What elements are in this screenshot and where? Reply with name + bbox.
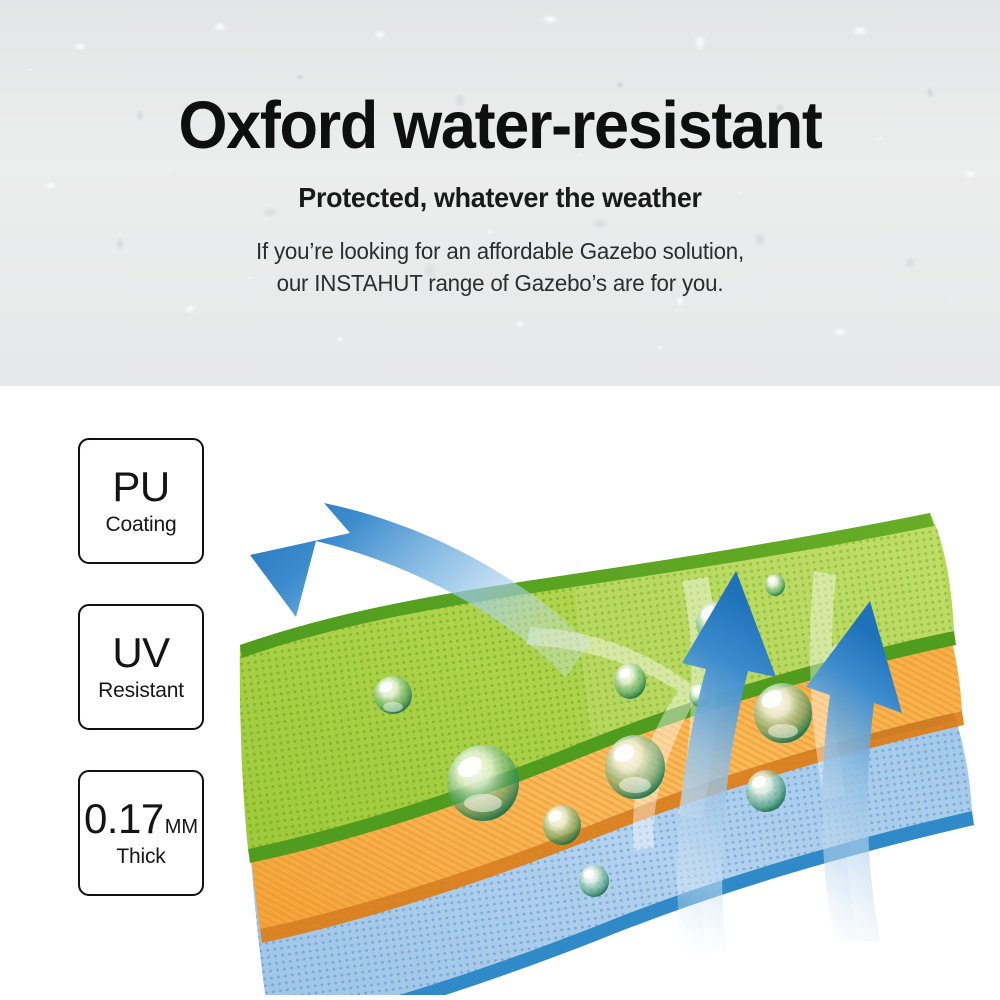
- water-droplet: [754, 683, 812, 743]
- badge-value: PU: [112, 467, 169, 508]
- feature-badge-pu-coating: PU Coating: [78, 438, 204, 564]
- badge-primary-text: UV: [112, 633, 169, 674]
- water-droplet: [579, 865, 609, 897]
- page-description: If you’re looking for an affordable Gaze…: [15, 212, 985, 299]
- product-infographic: Oxford water-resistant Protected, whatev…: [0, 0, 1000, 1000]
- badge-primary-text: PU: [112, 467, 169, 508]
- description-line-1: If you’re looking for an affordable Gaze…: [256, 238, 744, 264]
- badge-primary-text: 0.17MM: [84, 799, 198, 840]
- badge-secondary-text: Thick: [116, 846, 165, 867]
- feature-badge-thickness: 0.17MM Thick: [78, 770, 204, 896]
- water-droplet: [746, 770, 786, 812]
- badge-value: UV: [112, 633, 169, 674]
- badge-unit: MM: [165, 818, 198, 837]
- feature-badge-list: PU Coating UV Resistant 0.17MM Thick: [78, 438, 206, 936]
- water-droplet: [614, 663, 646, 699]
- badge-value: 0.17: [84, 799, 164, 840]
- page-subtitle: Protected, whatever the weather: [20, 159, 980, 212]
- page-title: Oxford water-resistant: [30, 0, 970, 159]
- badge-secondary-text: Coating: [106, 514, 177, 535]
- water-droplet: [447, 745, 519, 821]
- badge-secondary-text: Resistant: [98, 680, 184, 701]
- water-droplet: [374, 676, 412, 714]
- fabric-layers-illustration: [230, 395, 1000, 995]
- water-droplet: [765, 574, 785, 596]
- header-text-block: Oxford water-resistant Protected, whatev…: [0, 0, 1000, 299]
- description-line-2: our INSTAHUT range of Gazebo’s are for y…: [277, 270, 724, 296]
- water-droplet: [543, 805, 581, 845]
- water-droplet: [605, 735, 665, 799]
- feature-badge-uv-resistant: UV Resistant: [78, 604, 204, 730]
